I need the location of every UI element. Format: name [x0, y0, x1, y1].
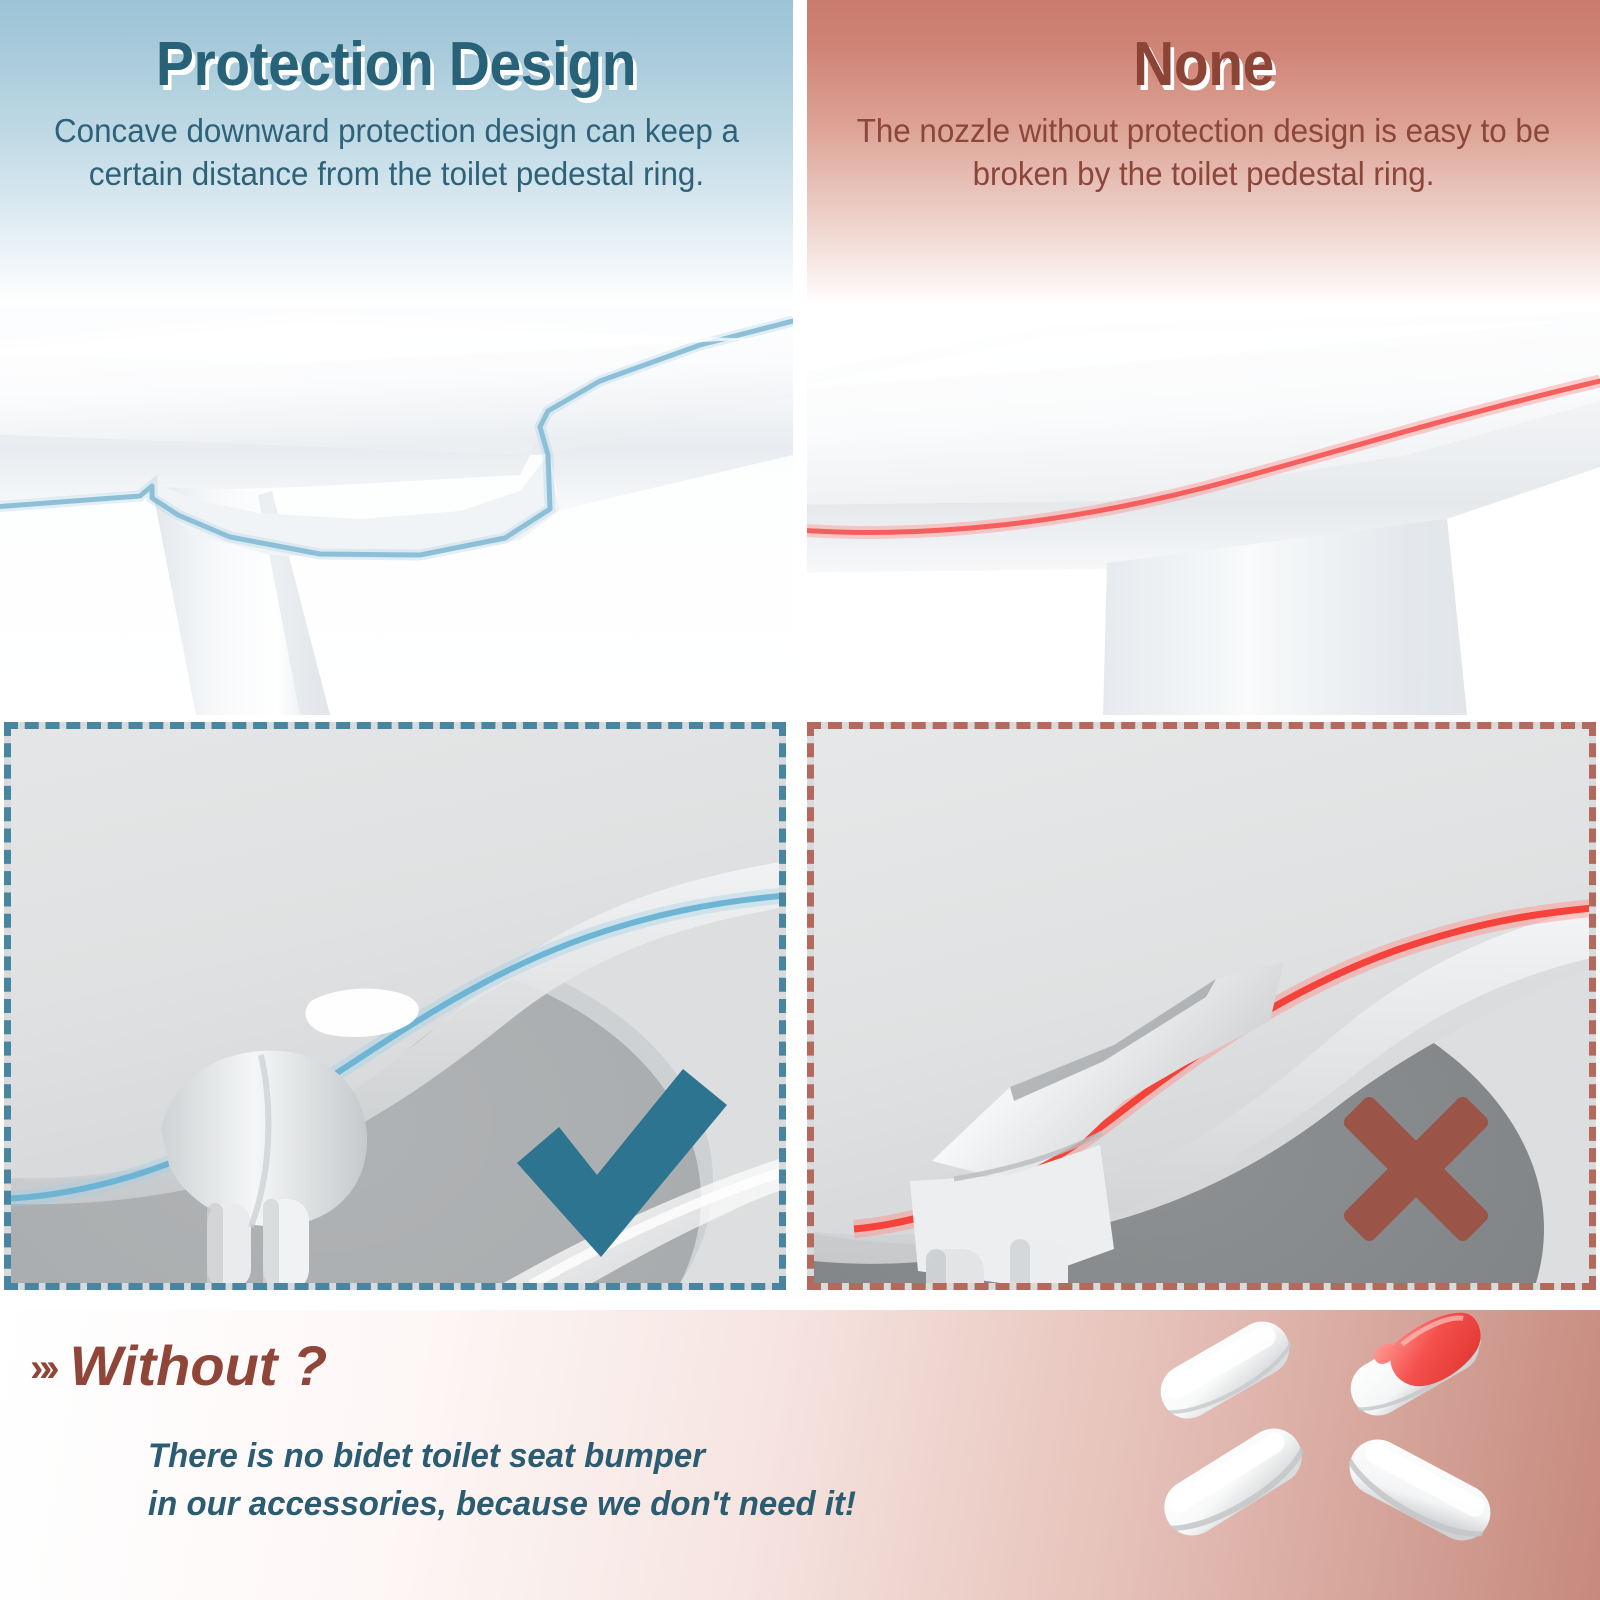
- without-heading-row: »› Without ?: [30, 1338, 1120, 1394]
- bumper-lower-right: [1340, 1430, 1500, 1551]
- footer-heading: Without ?: [70, 1338, 328, 1394]
- seat-edge-notch-illustration: [0, 305, 793, 715]
- infographic-page: Protection Design Concave downward prote…: [0, 0, 1600, 1600]
- header-panel-protection-design: Protection Design Concave downward prote…: [0, 0, 793, 305]
- footer-text-block: »› Without ? There is no bidet toilet se…: [30, 1338, 1120, 1529]
- header-panel-none: None The nozzle without protection desig…: [807, 0, 1600, 305]
- chevrons-icon: »›: [30, 1348, 54, 1388]
- photo-seat-edge-with-notch: [0, 305, 793, 715]
- bumper-upper-right: [1337, 1310, 1495, 1425]
- footer-body-line-1: There is no bidet toilet seat bumper: [148, 1432, 1091, 1480]
- footer-body-text: There is no bidet toilet seat bumper in …: [148, 1432, 1091, 1529]
- page-title-left: Protection Design: [156, 34, 636, 96]
- photo-bowl-protected: [4, 722, 786, 1290]
- photo-row-bottom: [0, 722, 1600, 1294]
- bowl-unprotected-illustration: [814, 729, 1589, 1283]
- header-band: Protection Design Concave downward prote…: [0, 0, 1600, 305]
- page-title-right: None: [1133, 34, 1274, 96]
- bumper-lower-left: [1154, 1418, 1313, 1546]
- bumper-products-illustration: [1150, 1310, 1600, 1600]
- bumper-products-image: [1150, 1310, 1600, 1600]
- footer-body-line-2: in our accessories, because we don't nee…: [148, 1480, 1091, 1528]
- photo-bowl-unprotected: [807, 722, 1596, 1290]
- bowl-protected-illustration: [11, 729, 779, 1283]
- photo-row-top: [0, 305, 1600, 715]
- bumper-upper-left: [1151, 1312, 1299, 1429]
- header-subtitle-right: The nozzle without protection design is …: [827, 110, 1580, 196]
- photo-seat-edge-flat: [807, 305, 1600, 715]
- header-subtitle-left: Concave downward protection design can k…: [20, 110, 773, 196]
- footer-band: »› Without ? There is no bidet toilet se…: [0, 1310, 1600, 1600]
- seat-edge-flat-illustration: [807, 305, 1600, 715]
